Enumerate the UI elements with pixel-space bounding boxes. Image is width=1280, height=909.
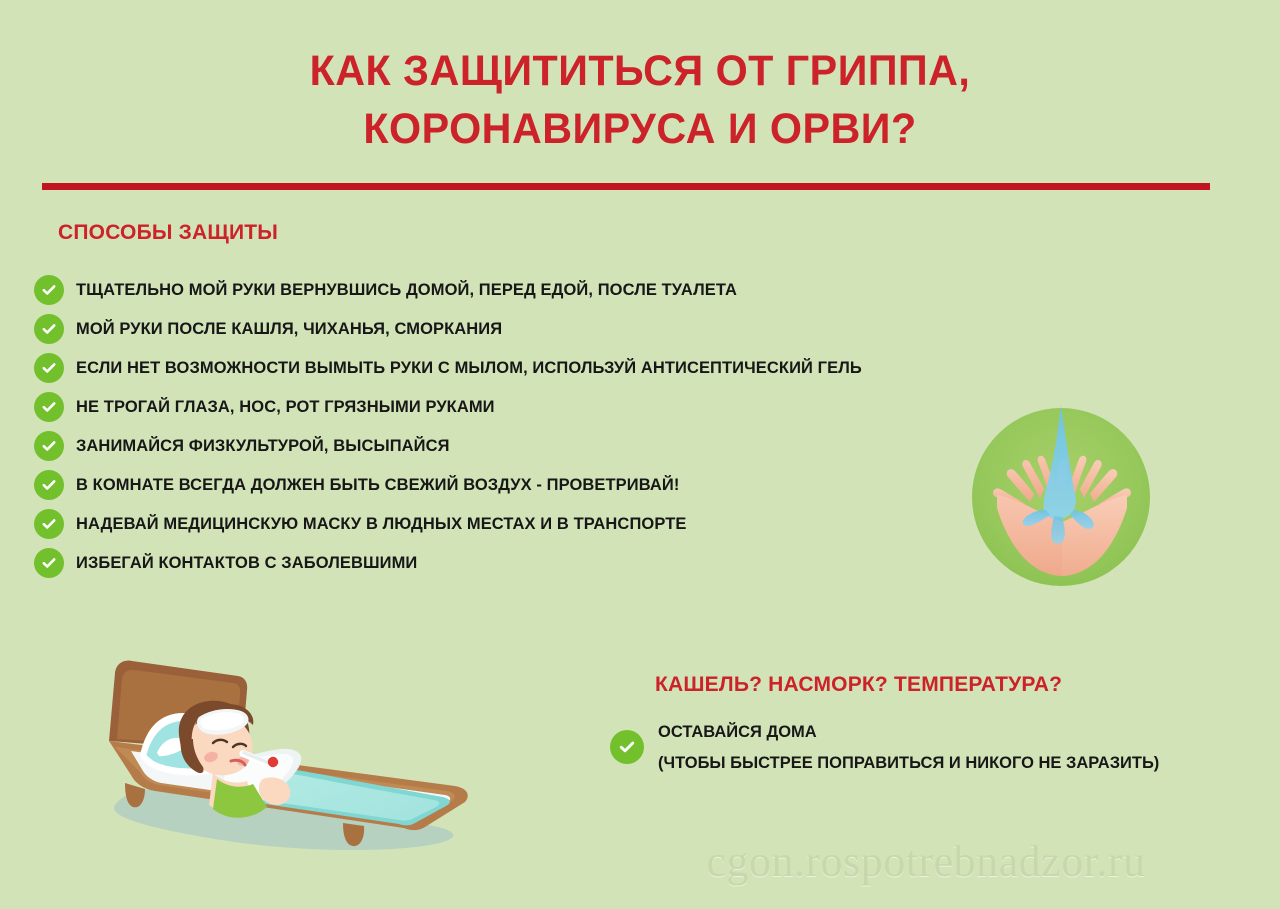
list-item-label: ИЗБЕГАЙ КОНТАКТОВ С ЗАБОЛЕВШИМИ: [76, 553, 417, 573]
check-circle-icon: [34, 314, 64, 344]
list-item: ЗАНИМАЙСЯ ФИЗКУЛЬТУРОЙ, ВЫСЫПАЙСЯ: [34, 426, 994, 465]
check-circle-icon: [34, 392, 64, 422]
check-circle-icon: [34, 275, 64, 305]
stay-home-secondary: (ЧТОБЫ БЫСТРЕЕ ПОПРАВИТЬСЯ И НИКОГО НЕ З…: [658, 747, 1159, 778]
list-item-label: МОЙ РУКИ ПОСЛЕ КАШЛЯ, ЧИХАНЬЯ, СМОРКАНИЯ: [76, 319, 502, 339]
stay-home-advice: ОСТАВАЙСЯ ДОМА (ЧТОБЫ БЫСТРЕЕ ПОПРАВИТЬС…: [610, 716, 1175, 778]
list-item-label: ЗАНИМАЙСЯ ФИЗКУЛЬТУРОЙ, ВЫСЫПАЙСЯ: [76, 436, 450, 456]
list-item-label: НЕ ТРОГАЙ ГЛАЗА, НОС, РОТ ГРЯЗНЫМИ РУКАМ…: [76, 397, 495, 417]
infographic-poster: КАК ЗАЩИТИТЬСЯ ОТ ГРИППА, КОРОНАВИРУСА И…: [0, 0, 1280, 909]
check-circle-icon: [34, 431, 64, 461]
washing-hands-illustration: [962, 398, 1160, 596]
protection-list: ТЩАТЕЛЬНО МОЙ РУКИ ВЕРНУВШИСЬ ДОМОЙ, ПЕР…: [34, 270, 994, 582]
sick-person-in-bed-illustration: [95, 655, 515, 860]
title-line-2: КОРОНАВИРУСА И ОРВИ?: [26, 100, 1255, 158]
list-item-label: В КОМНАТЕ ВСЕГДА ДОЛЖЕН БЫТЬ СВЕЖИЙ ВОЗД…: [76, 475, 679, 495]
page-title: КАК ЗАЩИТИТЬСЯ ОТ ГРИППА, КОРОНАВИРУСА И…: [0, 42, 1280, 158]
list-item: НЕ ТРОГАЙ ГЛАЗА, НОС, РОТ ГРЯЗНЫМИ РУКАМ…: [34, 387, 994, 426]
list-item-label: ТЩАТЕЛЬНО МОЙ РУКИ ВЕРНУВШИСЬ ДОМОЙ, ПЕР…: [76, 280, 737, 300]
list-item-label: НАДЕВАЙ МЕДИЦИНСКУЮ МАСКУ В ЛЮДНЫХ МЕСТА…: [76, 514, 686, 534]
title-divider: [42, 183, 1210, 190]
list-item: ТЩАТЕЛЬНО МОЙ РУКИ ВЕРНУВШИСЬ ДОМОЙ, ПЕР…: [34, 270, 994, 309]
title-line-1: КАК ЗАЩИТИТЬСЯ ОТ ГРИППА,: [26, 42, 1255, 100]
protection-section-heading: СПОСОБЫ ЗАЩИТЫ: [58, 221, 278, 245]
site-watermark: cgon.rospotrebnadzor.ru: [636, 836, 1216, 887]
check-circle-icon: [34, 509, 64, 539]
list-item-label: ЕСЛИ НЕТ ВОЗМОЖНОСТИ ВЫМЫТЬ РУКИ С МЫЛОМ…: [76, 358, 862, 378]
check-circle-icon: [610, 730, 644, 764]
check-circle-icon: [34, 470, 64, 500]
list-item: МОЙ РУКИ ПОСЛЕ КАШЛЯ, ЧИХАНЬЯ, СМОРКАНИЯ: [34, 309, 994, 348]
symptoms-section-heading: КАШЕЛЬ? НАСМОРК? ТЕМПЕРАТУРА?: [655, 673, 1062, 697]
list-item: ИЗБЕГАЙ КОНТАКТОВ С ЗАБОЛЕВШИМИ: [34, 543, 994, 582]
list-item: В КОМНАТЕ ВСЕГДА ДОЛЖЕН БЫТЬ СВЕЖИЙ ВОЗД…: [34, 465, 994, 504]
stay-home-text: ОСТАВАЙСЯ ДОМА (ЧТОБЫ БЫСТРЕЕ ПОПРАВИТЬС…: [658, 716, 1175, 778]
check-circle-icon: [34, 548, 64, 578]
check-circle-icon: [34, 353, 64, 383]
stay-home-primary: ОСТАВАЙСЯ ДОМА: [658, 716, 1159, 747]
list-item: НАДЕВАЙ МЕДИЦИНСКУЮ МАСКУ В ЛЮДНЫХ МЕСТА…: [34, 504, 994, 543]
list-item: ЕСЛИ НЕТ ВОЗМОЖНОСТИ ВЫМЫТЬ РУКИ С МЫЛОМ…: [34, 348, 994, 387]
